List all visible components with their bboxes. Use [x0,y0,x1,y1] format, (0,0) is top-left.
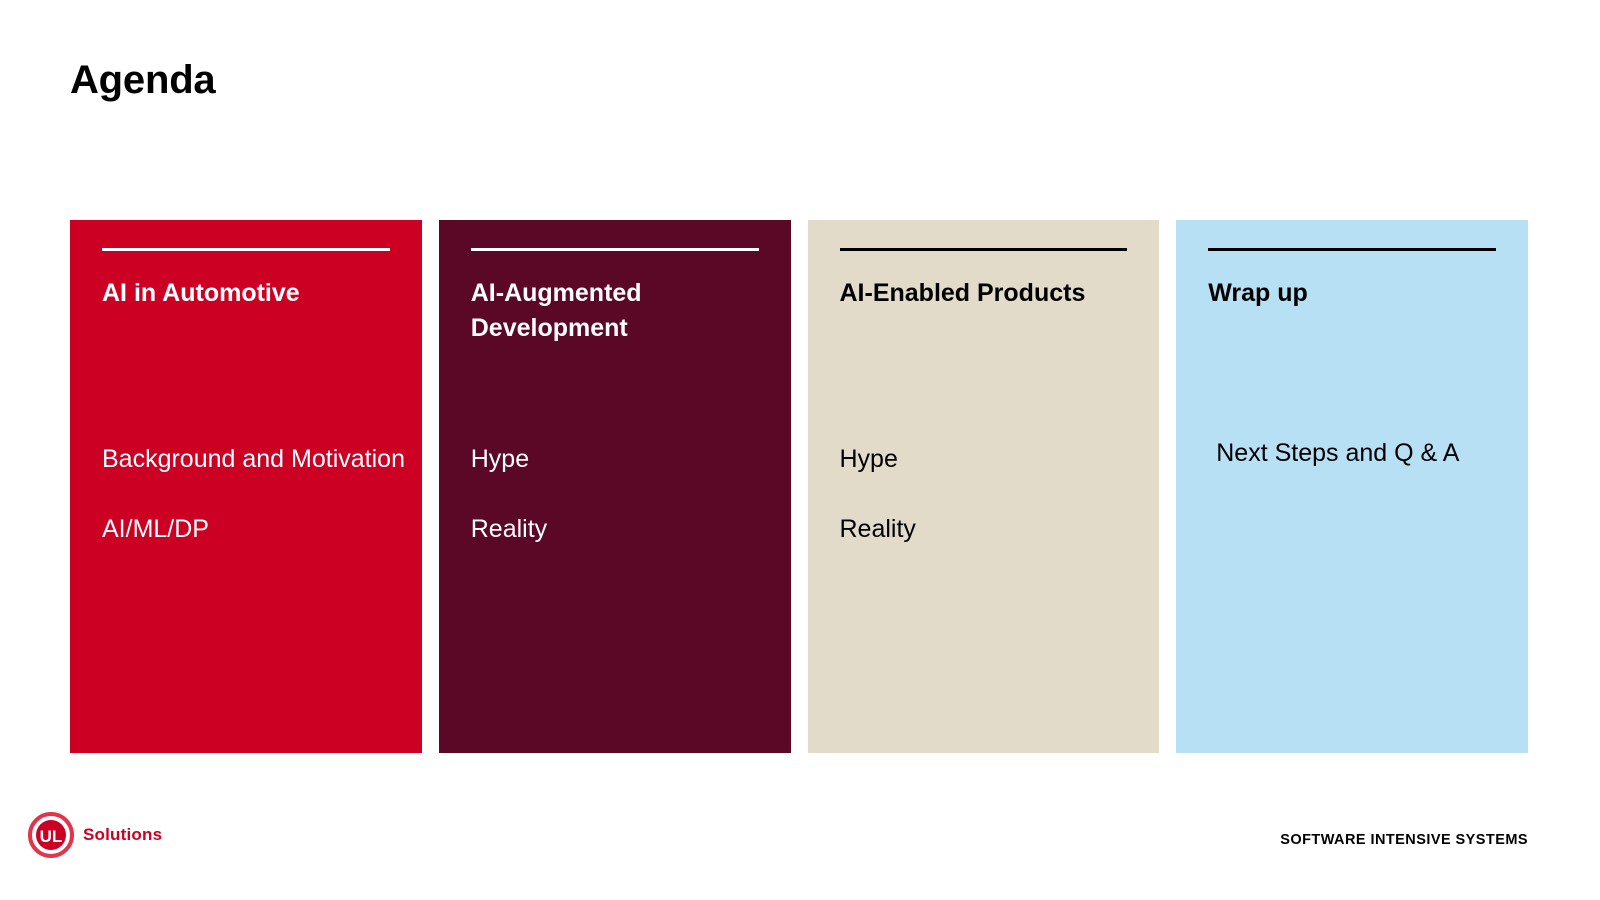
panel-heading: AI-Enabled Products [840,276,1146,311]
panel-body-line: Reality [471,512,777,548]
page-title: Agenda [70,58,215,102]
panel-heading: Wrap up [1208,276,1514,311]
panel-body-line: Reality [840,512,1146,548]
panel-body: Hype Reality [471,442,777,547]
panel-body-line: Next Steps and Q & A [1216,436,1514,472]
panel-body-line: Hype [471,442,777,478]
agenda-panel-ai-enabled-products[interactable]: AI-Enabled Products Hype Reality [808,220,1160,753]
panel-body-line: Background and Motivation [102,442,408,478]
panel-body-line: AI/ML/DP [102,512,408,548]
agenda-panels: AI in Automotive Background and Motivati… [70,220,1528,753]
panel-rule [102,248,390,251]
panel-body-line: Hype [840,442,1146,478]
panel-body: Next Steps and Q & A [1216,436,1514,472]
ul-circle-logo-icon: UL [28,812,74,858]
panel-heading: AI-Augmented Development [471,276,777,345]
footer-department-label: SOFTWARE INTENSIVE SYSTEMS [1280,832,1528,848]
svg-text:UL: UL [40,827,63,846]
ul-solutions-wordmark: Solutions [83,825,162,845]
ul-solutions-logo: UL Solutions [28,812,162,858]
agenda-panel-ai-augmented-development[interactable]: AI-Augmented Development Hype Reality [439,220,791,753]
panel-body: Hype Reality [840,442,1146,547]
agenda-panel-wrap-up[interactable]: Wrap up Next Steps and Q & A [1176,220,1528,753]
panel-body: Background and Motivation AI/ML/DP [102,442,408,547]
panel-rule [471,248,759,251]
agenda-panel-ai-in-automotive[interactable]: AI in Automotive Background and Motivati… [70,220,422,753]
panel-heading: AI in Automotive [102,276,408,311]
panel-rule [840,248,1128,251]
panel-rule [1208,248,1496,251]
